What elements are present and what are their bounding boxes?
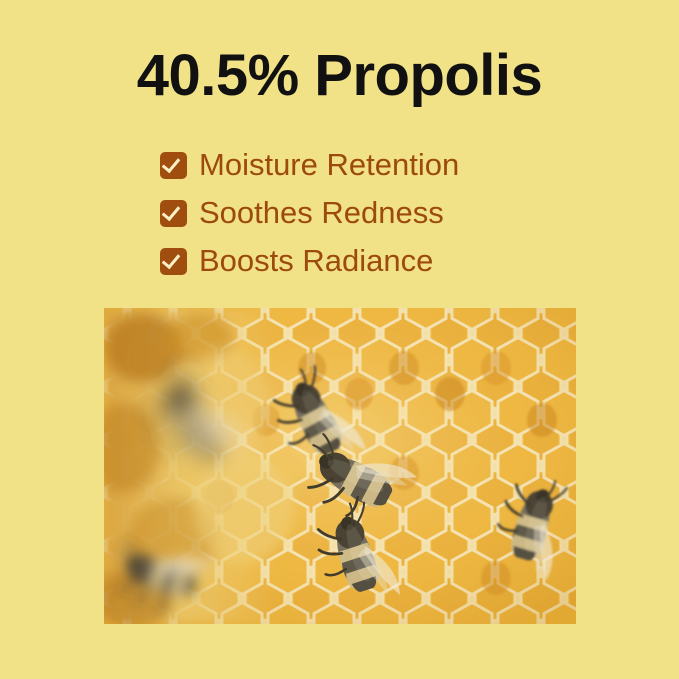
check-mark-icon <box>162 201 181 220</box>
check-box-icon <box>160 200 187 227</box>
list-item: Boosts Radiance <box>160 239 580 283</box>
list-item: Moisture Retention <box>160 143 580 187</box>
honeycomb-illustration <box>104 308 576 624</box>
check-mark-icon <box>162 249 181 268</box>
check-mark-icon <box>162 153 181 172</box>
honeycomb-bees-photo <box>104 308 576 624</box>
benefit-label: Soothes Redness <box>199 196 444 230</box>
list-item: Soothes Redness <box>160 191 580 235</box>
benefit-label: Boosts Radiance <box>199 244 433 278</box>
check-box-icon <box>160 152 187 179</box>
benefits-list: Moisture Retention Soothes Redness Boost… <box>160 143 580 287</box>
page-title: 40.5% Propolis <box>0 44 679 108</box>
benefit-label: Moisture Retention <box>199 148 459 182</box>
check-box-icon <box>160 248 187 275</box>
propolis-infographic-poster: 40.5% Propolis Moisture Retention Soothe… <box>0 0 679 679</box>
